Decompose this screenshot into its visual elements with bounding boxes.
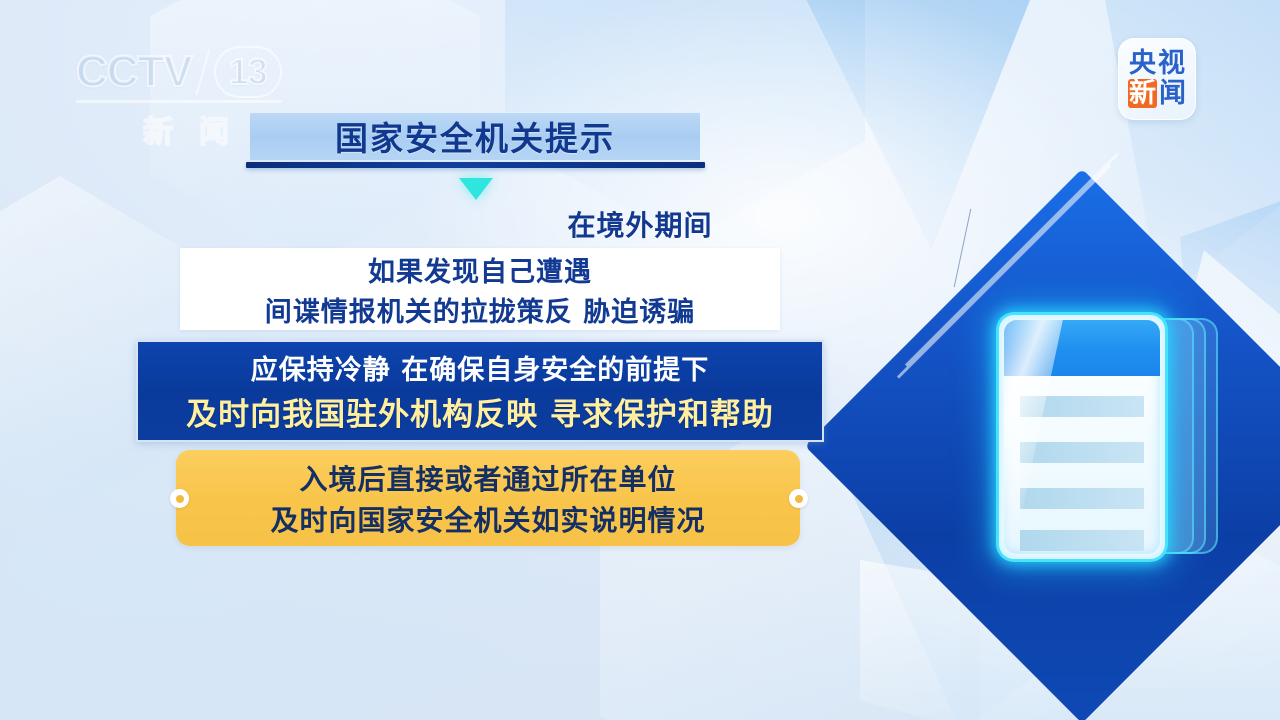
cctv-wordmark: CCTV <box>76 47 192 97</box>
news-badge-char-wen: 闻 <box>1159 80 1186 107</box>
news-badge-char-yang: 央 <box>1129 50 1156 77</box>
cctv-logo-char-xin: 新 <box>143 107 173 151</box>
news-badge-char-shi: 视 <box>1158 50 1185 77</box>
yellow-card-rivet-left <box>170 489 189 508</box>
advisory-card-white-line-1: 如果发现自己遭遇 <box>368 250 592 289</box>
yellow-card-rivet-right <box>789 489 808 508</box>
advisory-card-blue-line-1: 应保持冷静 在确保自身安全的前提下 <box>251 348 709 387</box>
news-badge-row-top: 央 视 <box>1129 50 1185 77</box>
cctv-channel-number: 13 <box>214 46 282 98</box>
document-text-line <box>1020 442 1144 463</box>
title-underline-rule <box>246 162 705 168</box>
news-badge-row-bottom: 新 闻 <box>1128 79 1186 108</box>
advisory-card-white: 如果发现自己遭遇 间谍情报机关的拉拢策反 胁迫诱骗 <box>180 248 780 330</box>
document-diamond-emblem <box>866 250 1280 650</box>
context-subheading: 在境外期间 <box>0 204 1280 244</box>
chevron-down-icon <box>459 178 493 200</box>
advisory-card-yellow-line-2: 及时向国家安全机关如实说明情况 <box>270 499 705 539</box>
advisory-card-blue-line-2: 及时向我国驻外机构反映 寻求保护和帮助 <box>186 389 774 434</box>
document-specular-shine <box>1004 320 1063 554</box>
cctv-news-badge: 央 视 新 闻 <box>1118 38 1196 120</box>
advisory-card-blue: 应保持冷静 在确保自身安全的前提下 及时向我国驻外机构反映 寻求保护和帮助 <box>136 340 824 442</box>
advisory-card-white-line-2: 间谍情报机关的拉拢策反 胁迫诱骗 <box>265 290 695 329</box>
document-page <box>1004 320 1160 554</box>
document-text-line <box>1020 488 1144 509</box>
news-badge-char-xin: 新 <box>1128 79 1157 108</box>
cctv-logo-row: CCTV 13 <box>76 46 296 98</box>
advisory-card-yellow-line-1: 入境后直接或者通过所在单位 <box>299 458 676 498</box>
cctv-slash-divider <box>195 49 210 95</box>
advisory-card-yellow: 入境后直接或者通过所在单位 及时向国家安全机关如实说明情况 <box>176 450 800 546</box>
document-text-line <box>1020 530 1144 551</box>
title-banner: 国家安全机关提示 <box>250 112 700 160</box>
cctv-logo-rule <box>76 100 282 103</box>
broadcast-graphic-screen: CCTV 13 新 闻 央 视 新 闻 国家安全机关提示 在境外期间 如果发现自… <box>0 0 1280 720</box>
page-title: 国家安全机关提示 <box>335 112 615 160</box>
cctv-logo-char-wen: 闻 <box>199 107 229 151</box>
document-icon <box>996 312 1168 562</box>
